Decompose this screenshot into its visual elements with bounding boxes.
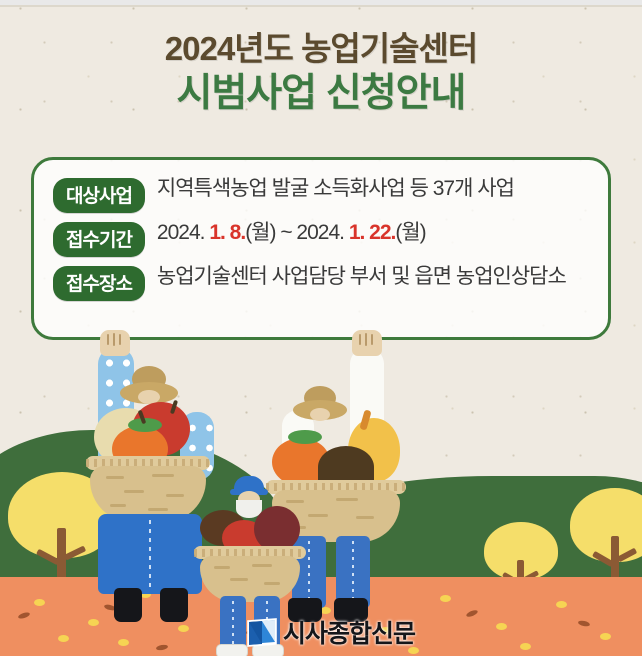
info-row-application-place: 접수장소 농업기술센터 사업담당 부서 및 읍면 농업인상담소 [34,263,608,301]
date-prefix-1: 2024. [157,221,209,244]
top-strip [0,0,642,6]
info-card: 대상사업 지역특색농업 발굴 소득화사업 등 37개 사업 접수기간 2024.… [31,157,611,340]
farmer-child [192,476,308,636]
face-right [310,408,330,421]
fist-left [100,330,130,356]
apron-left [98,514,202,594]
boot-left-2 [160,588,188,622]
fist-right [352,330,382,356]
shoe-child-1 [216,644,248,656]
title-line-1: 2024년도 농업기술센터 [0,30,642,69]
pant-child-1 [220,596,246,650]
info-row-application-period: 접수기간 2024. 1. 8.(월) ~ 2024. 1. 22.(월) [34,219,608,257]
basket-child [200,556,300,602]
leaf-green-right [288,430,322,444]
poster-title: 2024년도 농업기술센터 시범사업 신청안내 [0,30,642,117]
boot-left-1 [114,588,142,622]
date-end: 1. 22. [349,221,396,244]
label-application-place: 접수장소 [53,266,145,301]
label-target-project: 대상사업 [53,178,145,213]
poster-root: 2024년도 농업기술센터 시범사업 신청안내 대상사업 지역특색농업 발굴 소… [0,0,642,656]
date-mid: (월) ~ 2024. [245,221,349,244]
date-start: 1. 8. [209,221,245,244]
watermark: 시사종합신문 [246,614,415,650]
title-line-2: 시범사업 신청안내 [0,71,642,117]
info-row-target-project: 대상사업 지역특색농업 발굴 소득화사업 등 37개 사업 [34,175,608,213]
value-application-period: 2024. 1. 8.(월) ~ 2024. 1. 22.(월) [157,219,426,247]
value-target-project: 지역특색농업 발굴 소득화사업 등 37개 사업 [157,175,514,203]
watermark-text: 시사종합신문 [283,614,415,650]
date-suffix: (월) [395,221,425,244]
value-application-place: 농업기술센터 사업담당 부서 및 읍면 농업인상담소 [157,263,577,291]
label-application-period: 접수기간 [53,222,145,257]
open-book-logo-icon [246,617,278,647]
